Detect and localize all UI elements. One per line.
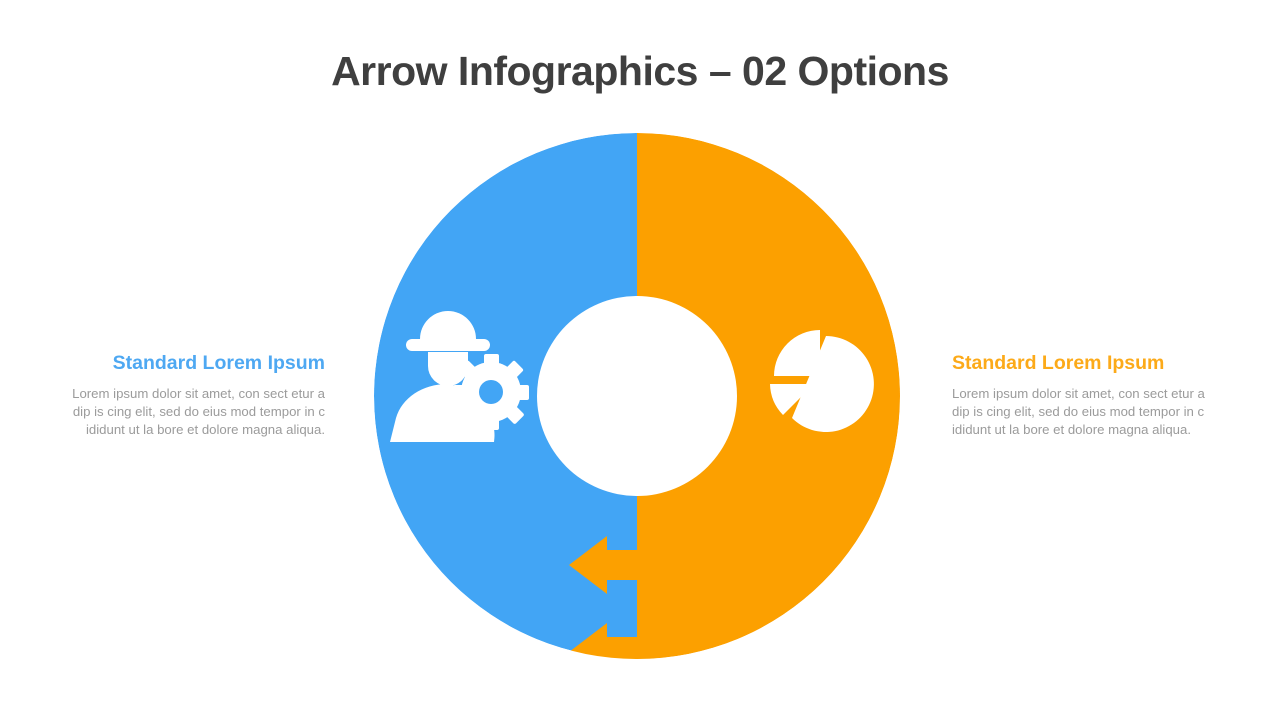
option-2-heading: Standard Lorem Ipsum <box>952 352 1222 375</box>
option-2-text-block: Standard Lorem Ipsum Lorem ipsum dolor s… <box>952 352 1222 440</box>
page-title: Arrow Infographics – 02 Options <box>0 48 1280 95</box>
option-2-body: Lorem ipsum dolor sit amet, con sect etu… <box>952 385 1222 440</box>
option-1-text-block: Standard Lorem Ipsum Lorem ipsum dolor s… <box>55 352 325 440</box>
option-1-body: Lorem ipsum dolor sit amet, con sect etu… <box>55 385 325 440</box>
option-1-heading: Standard Lorem Ipsum <box>55 352 325 375</box>
slide-canvas: Arrow Infographics – 02 Options Standard… <box>0 0 1280 720</box>
arrow-donut-diagram <box>368 126 908 666</box>
